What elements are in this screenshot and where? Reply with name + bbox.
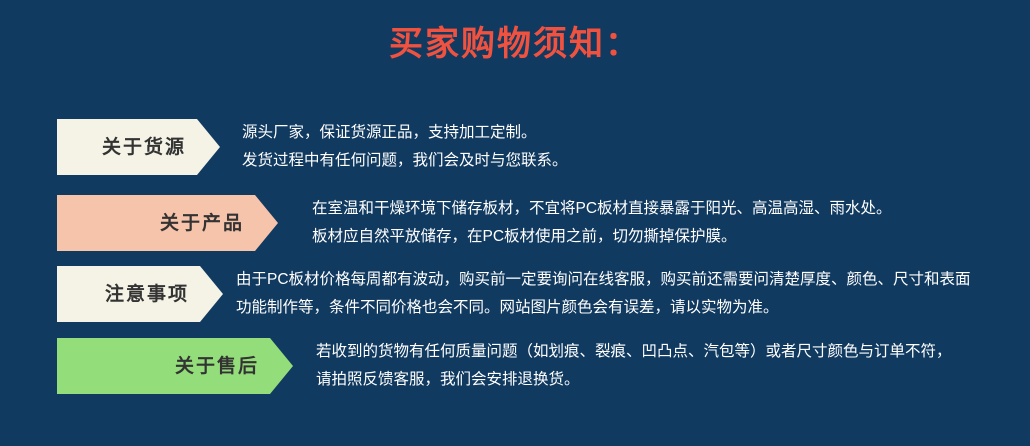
banner-label-product: 关于产品 xyxy=(160,214,244,233)
banner-label-attention: 注意事项 xyxy=(105,285,189,304)
notice-line: 板材应自然平放储存，在PC板材使用之前，切勿撕掉保护膜。 xyxy=(312,223,892,251)
notice-text-source: 源头厂家，保证货源正品，支持加工定制。 发货过程中有任何问题，我们会及时与您联系… xyxy=(242,119,568,175)
page-title: 买家购物须知： xyxy=(0,22,1030,66)
notice-line: 请拍照反馈客服，我们会安排退换货。 xyxy=(316,366,952,394)
buyer-notice-banner: 买家购物须知： 关于货源 源头厂家，保证货源正品，支持加工定制。 发货过程中有任… xyxy=(0,0,1030,446)
banner-arrow-aftersales: 关于售后 xyxy=(57,338,293,394)
notice-line: 源头厂家，保证货源正品，支持加工定制。 xyxy=(242,119,568,147)
banner-label-source: 关于货源 xyxy=(102,138,186,157)
notice-line: 由于PC板材价格每周都有波动，购买前一定要询问在线客服，购买前还需要问清楚厚度、… xyxy=(236,266,971,294)
notice-text-product: 在室温和干燥环境下储存板材，不宜将PC板材直接暴露于阳光、高温高湿、雨水处。 板… xyxy=(312,195,892,251)
notice-text-aftersales: 若收到的货物有任何质量问题（如划痕、裂痕、凹凸点、汽包等）或者尺寸颜色与订单不符… xyxy=(316,338,952,394)
notice-line: 功能制作等，条件不同价格也会不同。网站图片颜色会有误差，请以实物为准。 xyxy=(236,294,971,322)
notice-line: 在室温和干燥环境下储存板材，不宜将PC板材直接暴露于阳光、高温高湿、雨水处。 xyxy=(312,195,892,223)
notice-line: 发货过程中有任何问题，我们会及时与您联系。 xyxy=(242,147,568,175)
banner-arrow-attention: 注意事项 xyxy=(57,266,223,322)
banner-label-aftersales: 关于售后 xyxy=(175,357,259,376)
banner-arrow-source: 关于货源 xyxy=(57,119,220,175)
notice-line: 若收到的货物有任何质量问题（如划痕、裂痕、凹凸点、汽包等）或者尺寸颜色与订单不符… xyxy=(316,338,952,366)
banner-arrow-product: 关于产品 xyxy=(57,195,278,251)
notice-text-attention: 由于PC板材价格每周都有波动，购买前一定要询问在线客服，购买前还需要问清楚厚度、… xyxy=(236,266,971,322)
